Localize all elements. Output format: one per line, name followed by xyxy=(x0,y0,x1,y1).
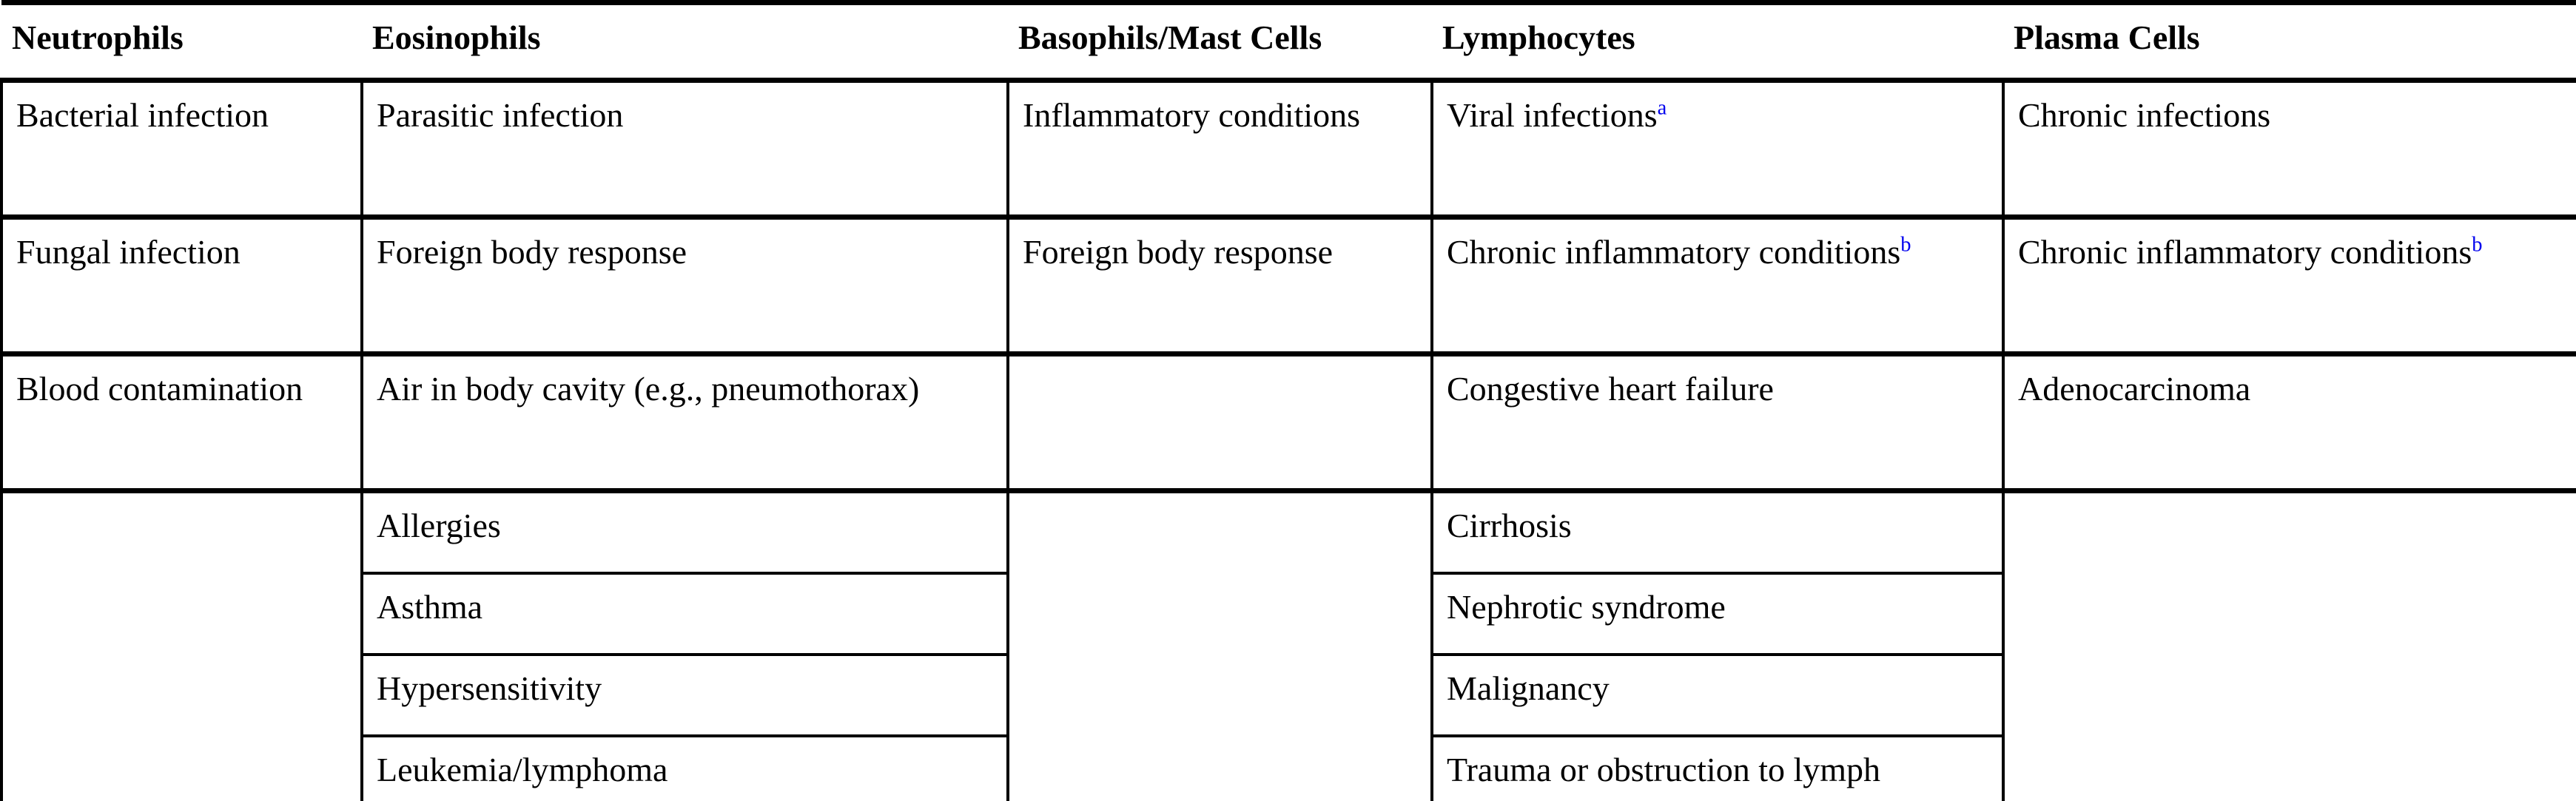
cell-eosinophils-6: Hypersensitivity xyxy=(362,655,1008,736)
cell-lymphocytes-1: Viral infectionsa xyxy=(1432,80,2003,217)
column-header-eosinophils: Eosinophils xyxy=(362,3,1008,81)
table-header-row: Neutrophils Eosinophils Basophils/Mast C… xyxy=(1,3,2576,81)
cell-eosinophils-7: Leukemia/lymphoma xyxy=(362,736,1008,801)
cell-neutrophils-3: Blood contamination xyxy=(1,354,362,490)
cell-plasma-blank xyxy=(2003,490,2576,801)
cell-plasma-1: Chronic infections xyxy=(2003,80,2576,217)
column-header-neutrophils: Neutrophils xyxy=(1,3,362,81)
table-container: Neutrophils Eosinophils Basophils/Mast C… xyxy=(0,0,2576,801)
cell-neutrophils-blank xyxy=(1,490,362,801)
cell-eosinophils-5: Asthma xyxy=(362,573,1008,655)
table-row: Bacterial infection Parasitic infection … xyxy=(1,80,2576,217)
cell-basophils-blank xyxy=(1008,490,1432,801)
table-row: Allergies Cirrhosis xyxy=(1,490,2576,573)
footnote-marker-a: a xyxy=(1658,96,1667,119)
cell-eosinophils-3: Air in body cavity (e.g., pneumothorax) xyxy=(362,354,1008,490)
column-header-plasma-cells: Plasma Cells xyxy=(2003,3,2576,81)
table-row: Fungal infection Foreign body response F… xyxy=(1,217,2576,354)
cell-neutrophils-2: Fungal infection xyxy=(1,217,362,354)
cell-plasma-3: Adenocarcinoma xyxy=(2003,354,2576,490)
cell-text: Chronic inflammatory conditions xyxy=(1447,233,1900,271)
cell-text: Chronic inflammatory conditions xyxy=(2018,233,2472,271)
cell-basophils-1: Inflammatory conditions xyxy=(1008,80,1432,217)
cell-plasma-2: Chronic inflammatory conditionsb xyxy=(2003,217,2576,354)
cell-lymphocytes-7: Trauma or obstruction to lymph xyxy=(1432,736,2003,801)
cell-text: Viral infections xyxy=(1447,96,1658,134)
cell-lymphocytes-6: Malignancy xyxy=(1432,655,2003,736)
cell-eosinophils-2: Foreign body response xyxy=(362,217,1008,354)
table-row: Blood contamination Air in body cavity (… xyxy=(1,354,2576,490)
cell-eosinophils-1: Parasitic infection xyxy=(362,80,1008,217)
cell-lymphocytes-5: Nephrotic syndrome xyxy=(1432,573,2003,655)
cell-eosinophils-4: Allergies xyxy=(362,490,1008,573)
footnote-marker-b: b xyxy=(2472,233,2482,256)
cell-basophils-3 xyxy=(1008,354,1432,490)
cell-basophils-2: Foreign body response xyxy=(1008,217,1432,354)
footnote-marker-b: b xyxy=(1900,233,1911,256)
cell-neutrophils-1: Bacterial infection xyxy=(1,80,362,217)
cell-lymphocytes-2: Chronic inflammatory conditionsb xyxy=(1432,217,2003,354)
column-header-lymphocytes: Lymphocytes xyxy=(1432,3,2003,81)
cell-lymphocytes-4: Cirrhosis xyxy=(1432,490,2003,573)
column-header-basophils-mast-cells: Basophils/Mast Cells xyxy=(1008,3,1432,81)
cell-type-differential-table: Neutrophils Eosinophils Basophils/Mast C… xyxy=(0,0,2576,801)
cell-lymphocytes-3: Congestive heart failure xyxy=(1432,354,2003,490)
